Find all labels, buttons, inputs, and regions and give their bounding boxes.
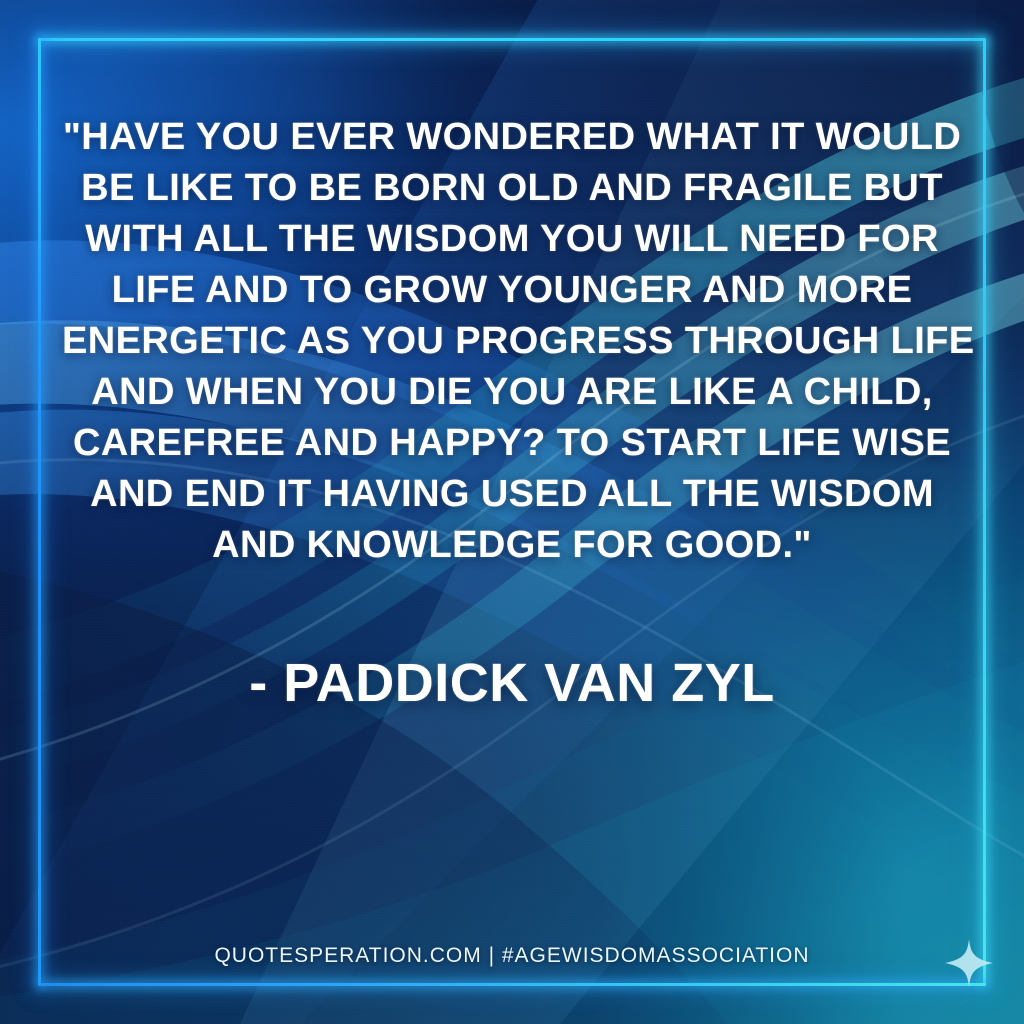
quote-line: LIFE AND TO GROW YOUNGER AND MORE bbox=[62, 265, 962, 316]
quote-line: AND WHEN YOU DIE YOU ARE LIKE A CHILD, bbox=[62, 367, 962, 418]
quote-line: WITH ALL THE WISDOM YOU WILL NEED FOR bbox=[62, 214, 962, 265]
quote-line: AND END IT HAVING USED ALL THE WISDOM bbox=[62, 469, 962, 520]
sparkle-icon bbox=[944, 938, 994, 988]
quote-poster: "HAVE YOU EVER WONDERED WHAT IT WOULD BE… bbox=[0, 0, 1024, 1024]
quote-line: ENERGETIC AS YOU PROGRESS THROUGH LIFE bbox=[62, 316, 962, 367]
quote-line: "HAVE YOU EVER WONDERED WHAT IT WOULD bbox=[62, 112, 962, 163]
quote-line: BE LIKE TO BE BORN OLD AND FRAGILE BUT bbox=[62, 163, 962, 214]
quote-line: CAREFREE AND HAPPY? TO START LIFE WISE bbox=[62, 418, 962, 469]
poster-content: "HAVE YOU EVER WONDERED WHAT IT WOULD BE… bbox=[0, 0, 1024, 1024]
quote-line: AND KNOWLEDGE FOR GOOD." bbox=[62, 520, 962, 571]
footer-attribution: QUOTESPERATION.COM | #AGEWISDOMASSOCIATI… bbox=[0, 944, 1024, 968]
quote-author: - PADDICK VAN ZYL bbox=[62, 652, 962, 714]
quote-text: "HAVE YOU EVER WONDERED WHAT IT WOULD BE… bbox=[62, 112, 962, 571]
